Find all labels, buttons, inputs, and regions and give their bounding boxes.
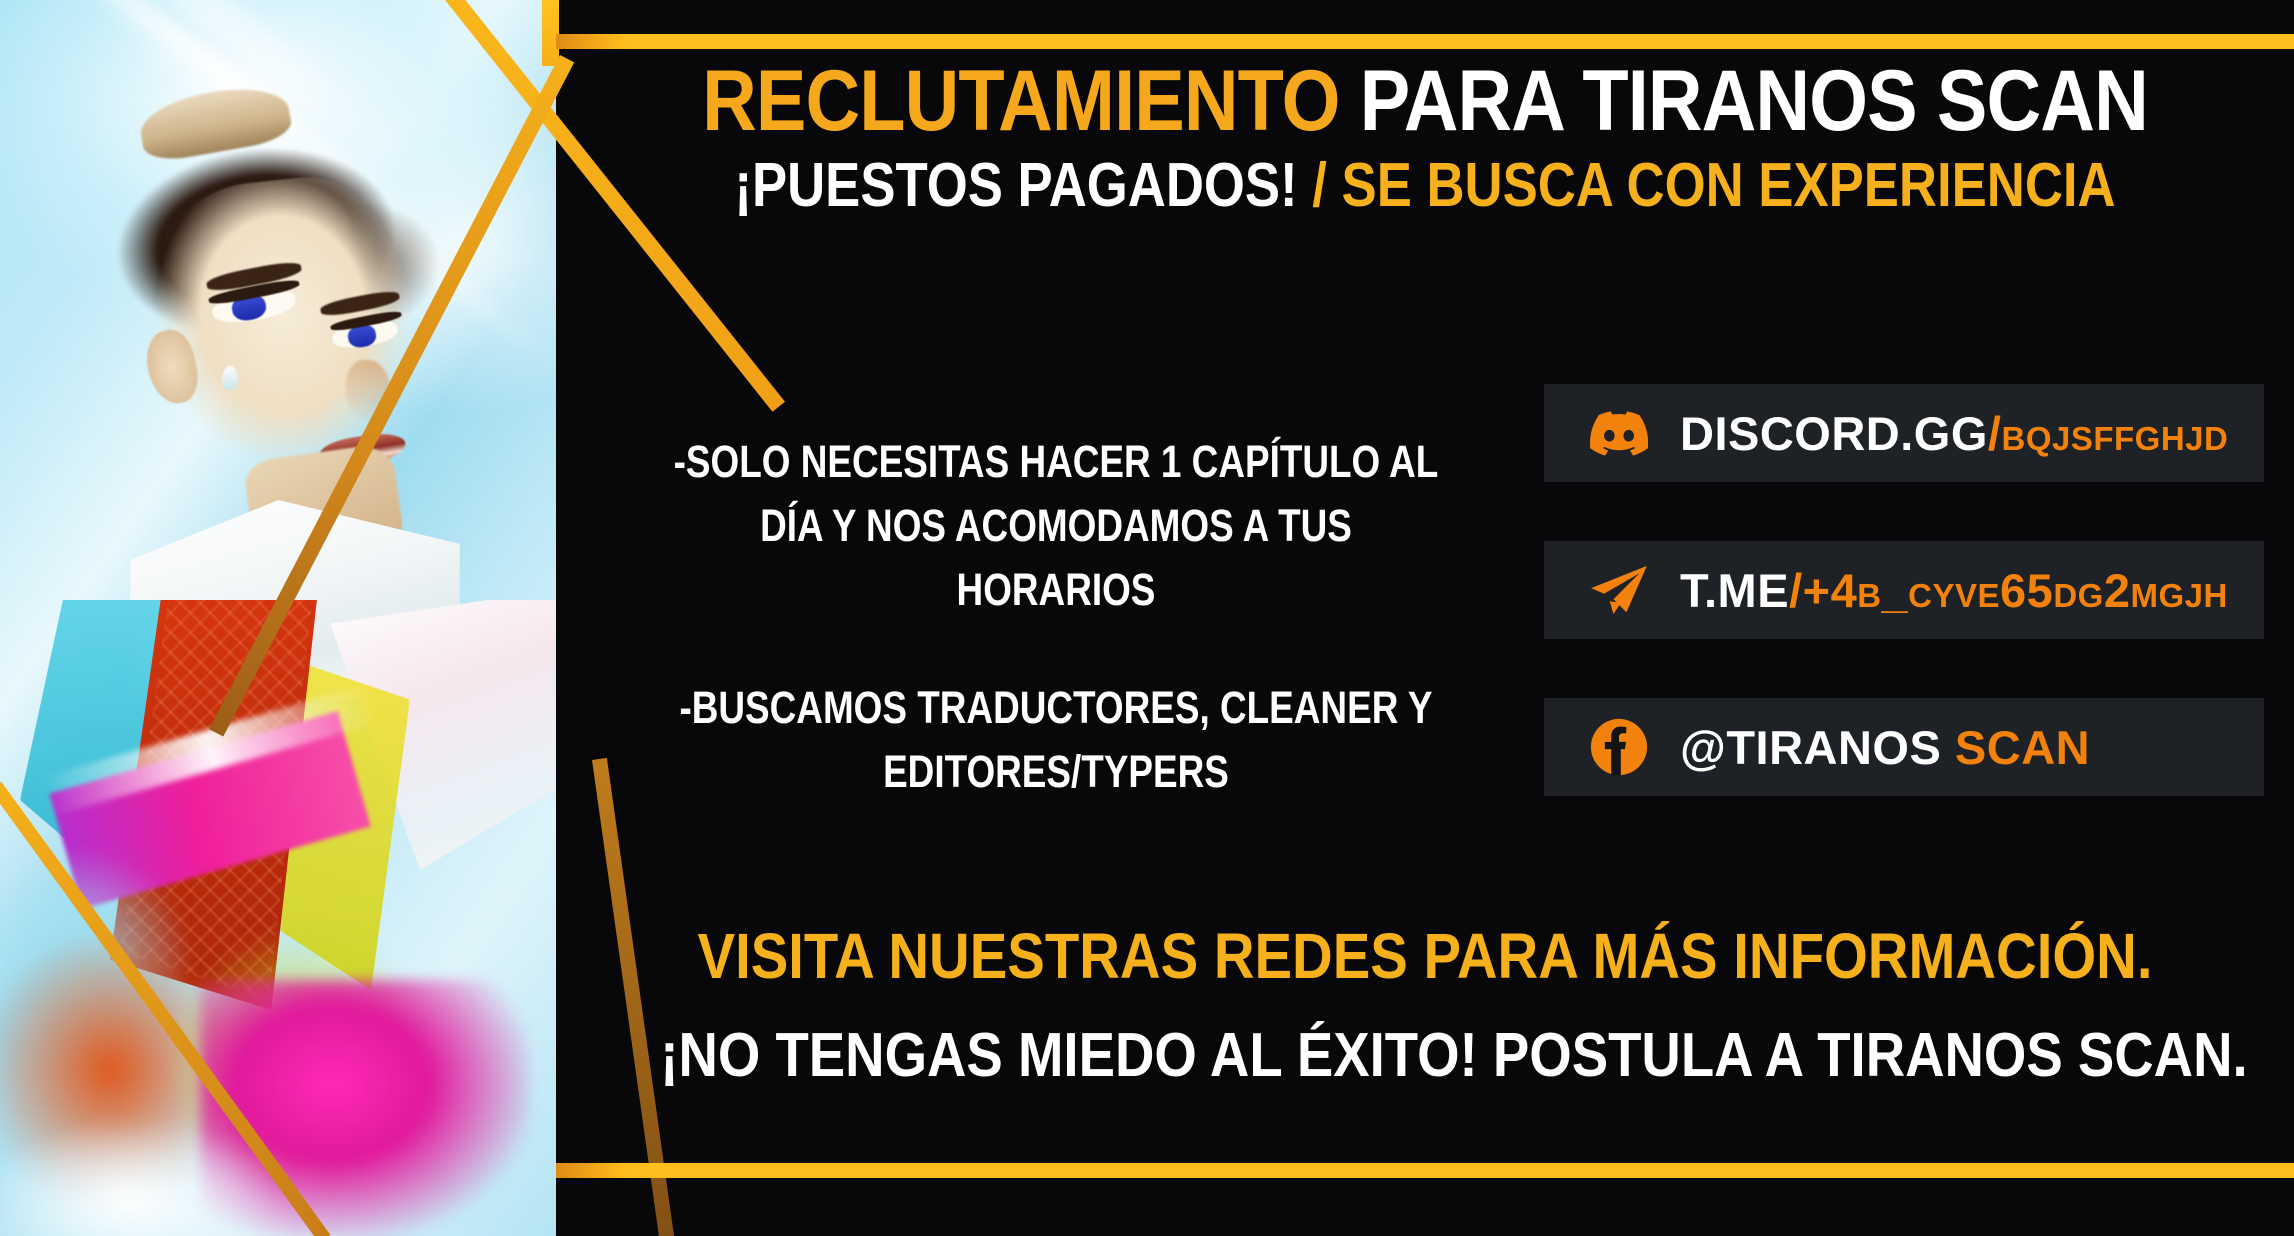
telegram-label: T.ME/+4B_CyVe65DG2MGJh xyxy=(1680,563,2228,618)
contact-facebook[interactable]: @TIRANOS SCAN xyxy=(1544,698,2264,796)
contact-discord[interactable]: DISCORD.GG/bQJsFFgHJd xyxy=(1544,384,2264,482)
requirement-item: -BUSCAMOS TRADUCTORES, CLEANER Y EDITORE… xyxy=(662,676,1449,804)
cta-line-1: VISITA NUESTRAS REDES PARA MÁS INFORMACI… xyxy=(660,916,2189,998)
artwork-garment-collage xyxy=(0,600,640,1236)
character-artwork xyxy=(0,0,640,1236)
facebook-handle-suffix: SCAN xyxy=(1955,721,2090,774)
subtitle-separator: / xyxy=(1298,151,1342,220)
cta-line-2: ¡NO TENGAS MIEDO AL ÉXITO! POSTULA A TIR… xyxy=(660,1016,2189,1095)
subtitle-paid-positions: ¡PUESTOS PAGADOS! xyxy=(734,151,1297,220)
telegram-slash: / xyxy=(1789,564,1803,617)
discord-domain: DISCORD.GG xyxy=(1680,407,1988,460)
facebook-handle: @TIRANOS xyxy=(1680,721,1941,774)
page-title: RECLUTAMIENTO PARA TIRANOS SCAN xyxy=(660,58,2189,144)
telegram-domain: T.ME xyxy=(1680,564,1789,617)
facebook-space xyxy=(1941,721,1955,774)
facebook-label: @TIRANOS SCAN xyxy=(1680,720,2090,775)
subtitle-experience: SE BUSCA CON EXPERIENCIA xyxy=(1342,151,2116,220)
requirement-item: -SOLO NECESITAS HACER 1 CAPÍTULO AL DÍA … xyxy=(662,430,1449,622)
discord-icon xyxy=(1588,402,1650,464)
telegram-icon xyxy=(1588,559,1650,621)
content-area: RECLUTAMIENTO PARA TIRANOS SCAN ¡PUESTOS… xyxy=(556,0,2294,1236)
call-to-action: VISITA NUESTRAS REDES PARA MÁS INFORMACI… xyxy=(556,916,2294,1095)
discord-invite-code: bQJsFFgHJd xyxy=(2001,407,2228,460)
requirements-block: -SOLO NECESITAS HACER 1 CAPÍTULO AL DÍA … xyxy=(662,430,1449,803)
contact-list: DISCORD.GG/bQJsFFgHJd T.ME/+4B_CyVe65DG2… xyxy=(1544,384,2264,796)
discord-slash: / xyxy=(1988,407,2002,460)
facebook-icon xyxy=(1588,716,1650,778)
contact-telegram[interactable]: T.ME/+4B_CyVe65DG2MGJh xyxy=(1544,541,2264,639)
character-nose xyxy=(346,360,390,420)
discord-label: DISCORD.GG/bQJsFFgHJd xyxy=(1680,406,2228,461)
sweat-drop xyxy=(222,366,238,390)
telegram-invite-code: +4B_CyVe65DG2MGJh xyxy=(1803,564,2228,617)
subtitle: ¡PUESTOS PAGADOS! / SE BUSCA CON EXPERIE… xyxy=(686,155,2163,217)
headline-rest: PARA TIRANOS SCAN xyxy=(1340,53,2148,149)
garment-white-glow xyxy=(0,1120,280,1236)
recruitment-banner: RECLUTAMIENTO PARA TIRANOS SCAN ¡PUESTOS… xyxy=(0,0,2294,1236)
headline-highlight: RECLUTAMIENTO xyxy=(702,53,1339,149)
